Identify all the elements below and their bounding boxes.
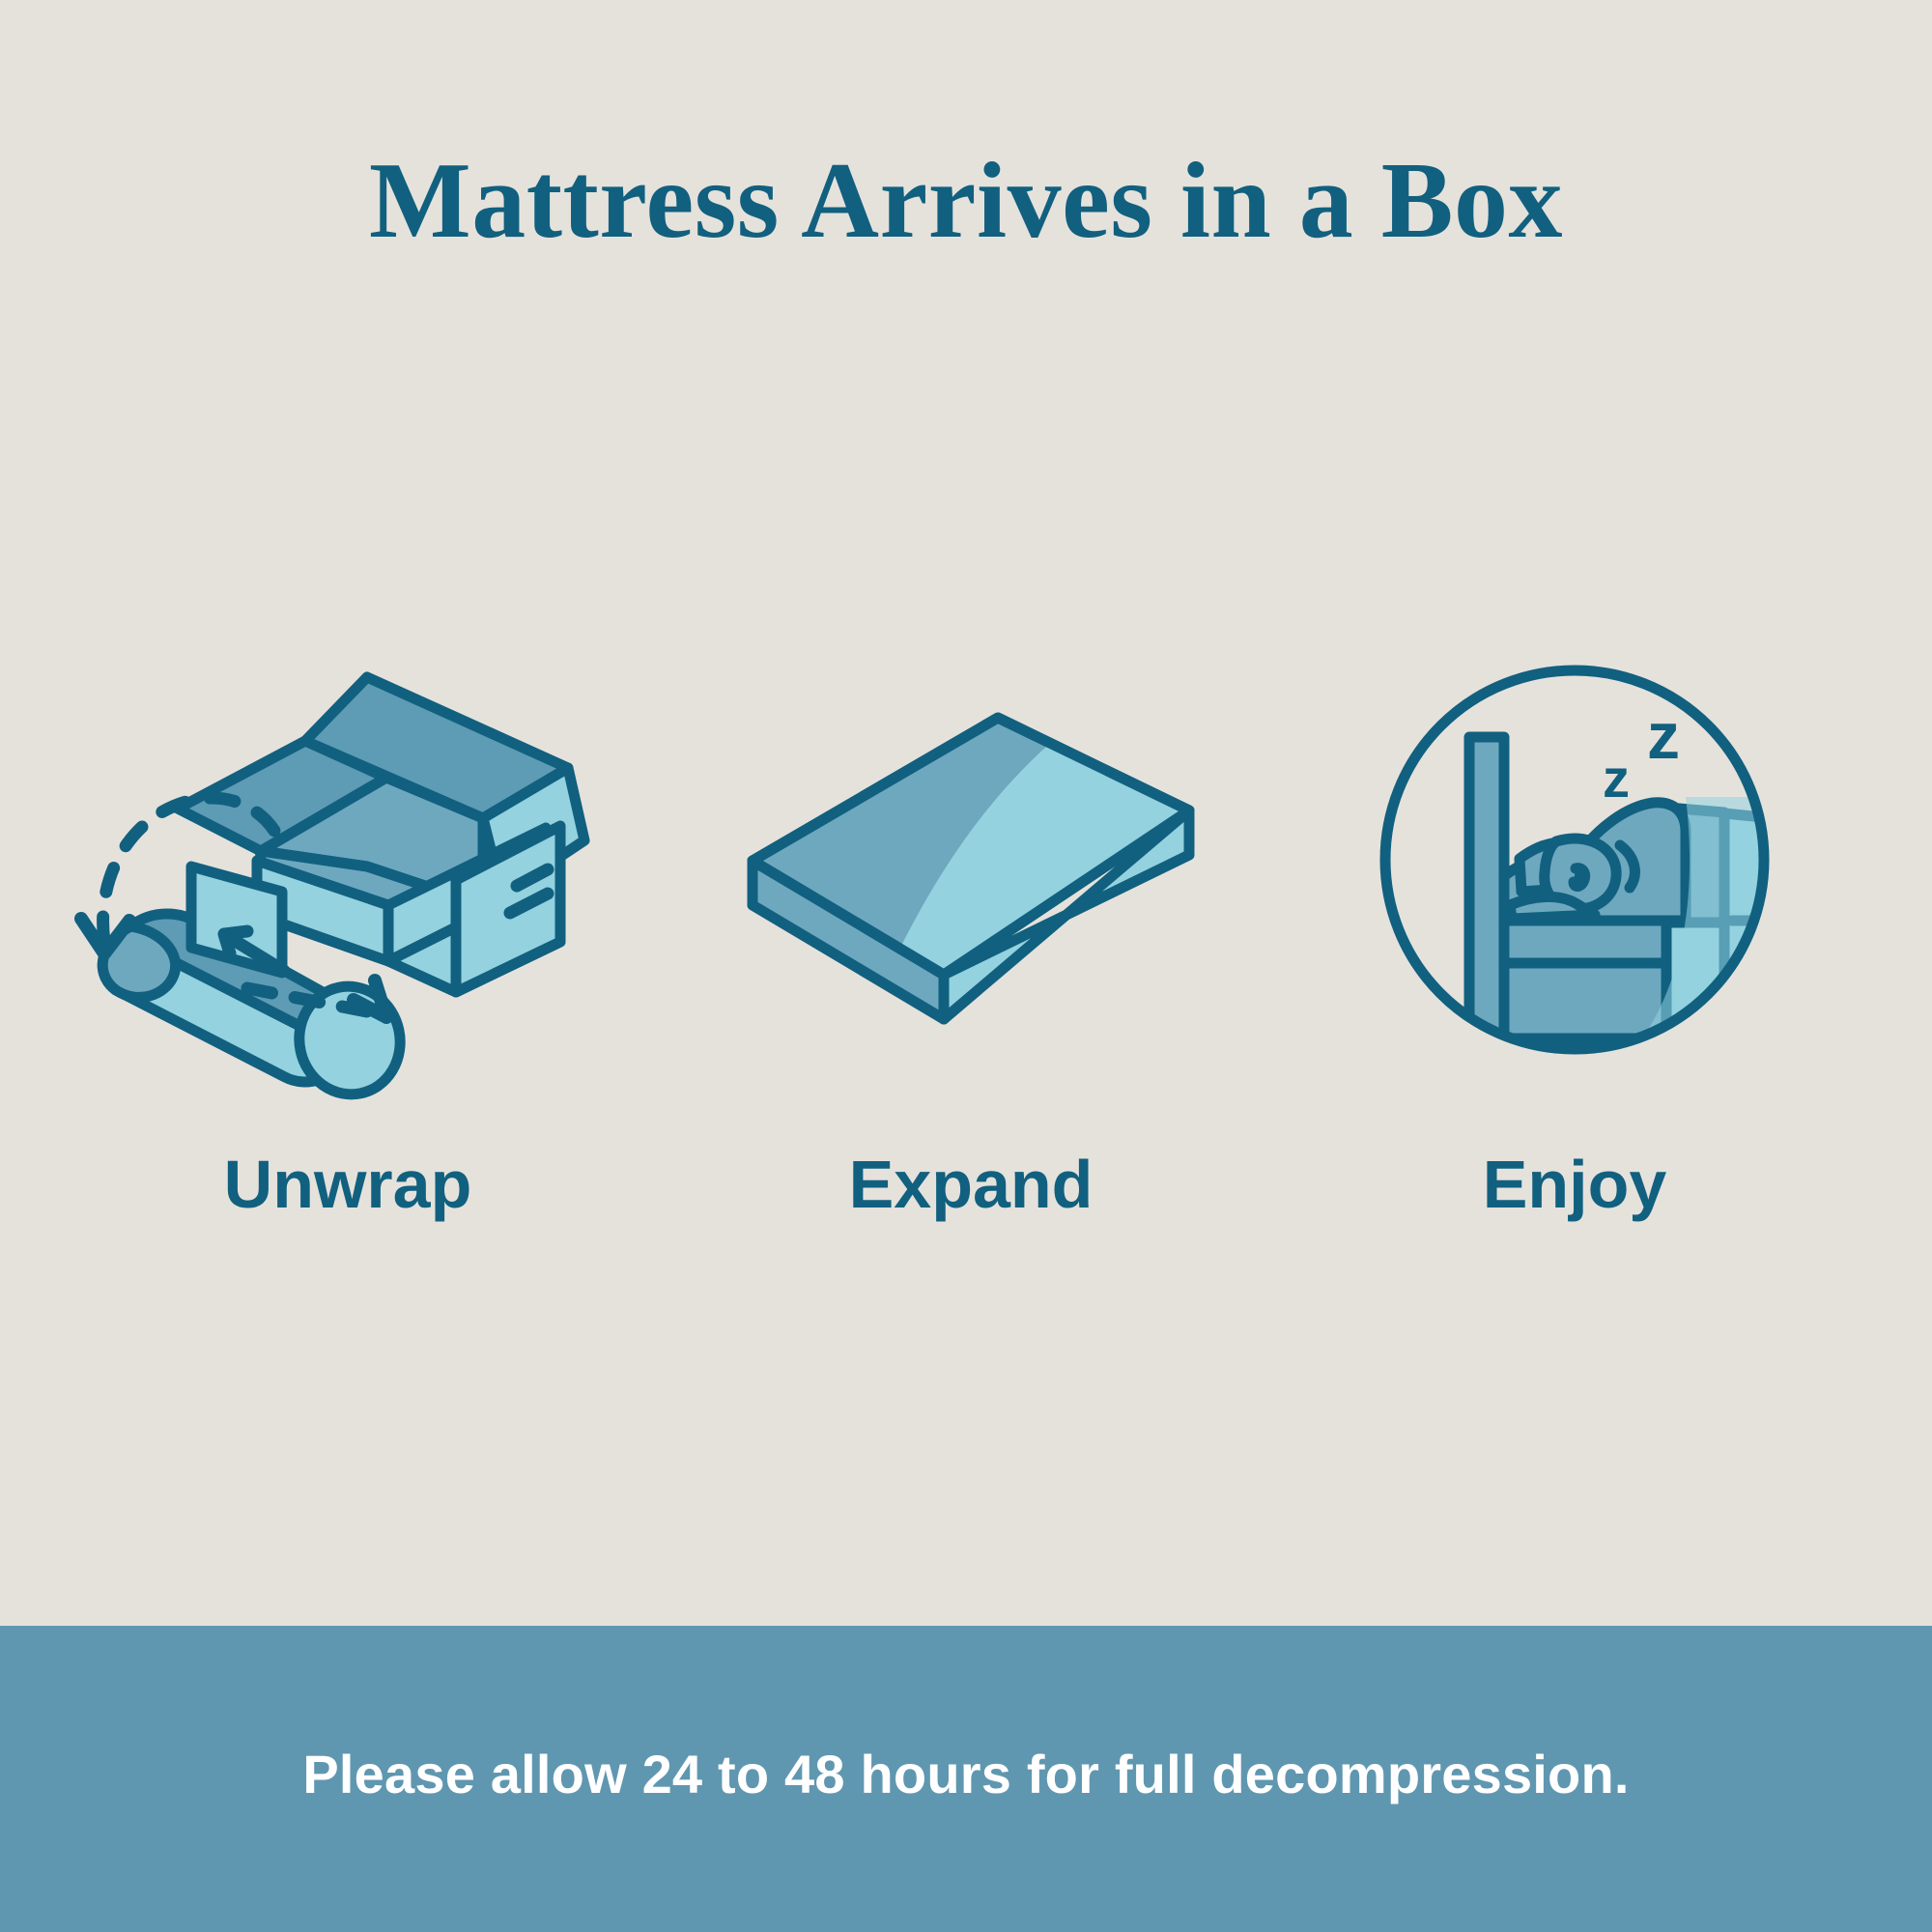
step-label-enjoy: Enjoy [1483, 1146, 1667, 1223]
step-label-unwrap: Unwrap [224, 1146, 472, 1223]
infographic-canvas: Mattress Arrives in a Box [0, 0, 1932, 1932]
step-enjoy: z z Enjoy [1285, 647, 1864, 1223]
flat-mattress-icon [681, 647, 1261, 1072]
sleep-z-small: z [1603, 748, 1630, 809]
person-sleeping-in-bed-icon: z z [1285, 647, 1864, 1072]
step-unwrap: Unwrap [58, 647, 638, 1223]
box-with-rolled-mattress-icon [58, 647, 638, 1072]
decompression-notice-banner: Please allow 24 to 48 hours for full dec… [0, 1626, 1932, 1932]
decompression-notice-text: Please allow 24 to 48 hours for full dec… [302, 1743, 1629, 1805]
sleep-z-large: z [1647, 699, 1680, 773]
step-expand: Expand [681, 647, 1261, 1223]
steps-row: Unwrap Expand [0, 647, 1932, 1323]
step-label-expand: Expand [849, 1146, 1094, 1223]
page-title: Mattress Arrives in a Box [0, 145, 1932, 259]
